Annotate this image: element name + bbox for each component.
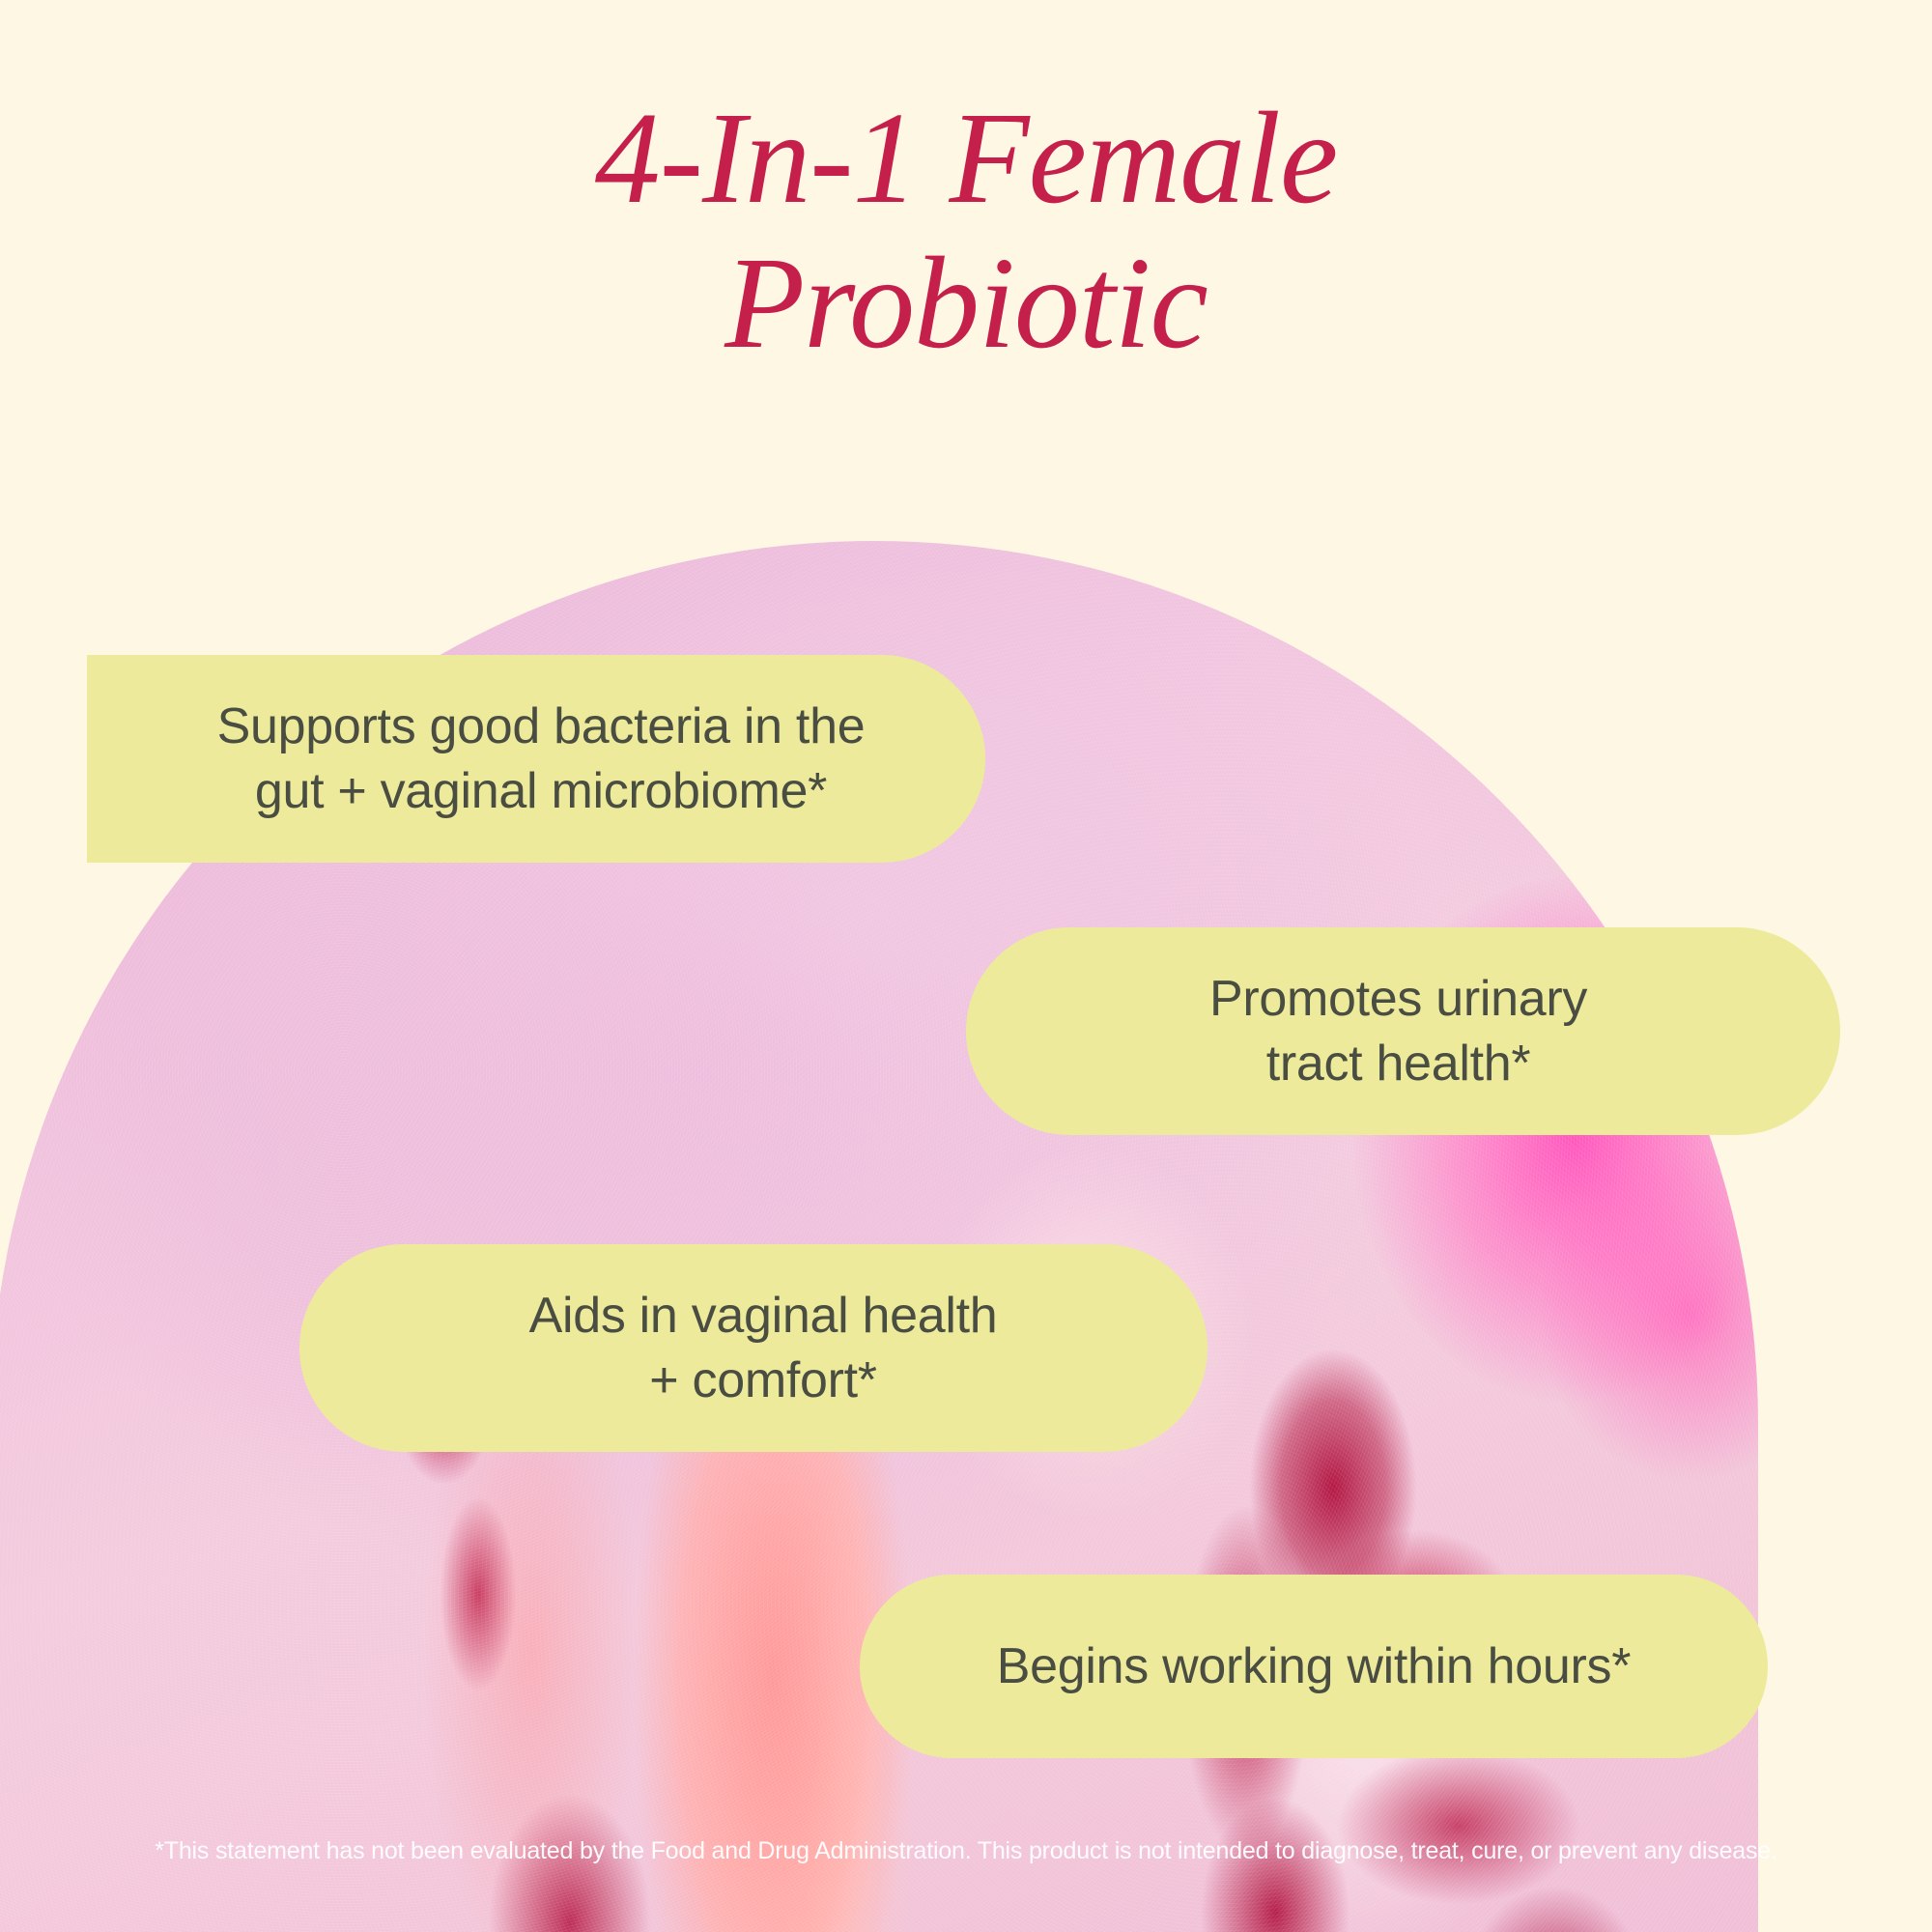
benefit-pill-label: Promotes urinary tract health* (1024, 967, 1773, 1095)
benefit-pill-label: Supports good bacteria in the gut + vagi… (135, 695, 947, 823)
product-benefits-graphic: 4-In-1 Female Probiotic Supports good ba… (0, 0, 1932, 1932)
title-line-1: 4-In-1 Female (0, 93, 1932, 224)
benefit-pill-urinary-tract-health: Promotes urinary tract health* (966, 927, 1840, 1135)
benefit-pill-label: Aids in vaginal health + comfort* (357, 1284, 1169, 1412)
benefit-pill-label: Begins working within hours* (898, 1634, 1729, 1699)
benefit-pill-vaginal-health-comfort: Aids in vaginal health + comfort* (299, 1244, 1207, 1452)
fda-disclaimer: *This statement has not been evaluated b… (0, 1835, 1932, 1867)
page-title: 4-In-1 Female Probiotic (0, 93, 1932, 369)
benefit-pill-gut-vaginal-microbiome: Supports good bacteria in the gut + vagi… (87, 655, 985, 863)
benefit-pill-begins-working-hours: Begins working within hours* (860, 1575, 1768, 1758)
title-line-2: Probiotic (0, 238, 1932, 369)
